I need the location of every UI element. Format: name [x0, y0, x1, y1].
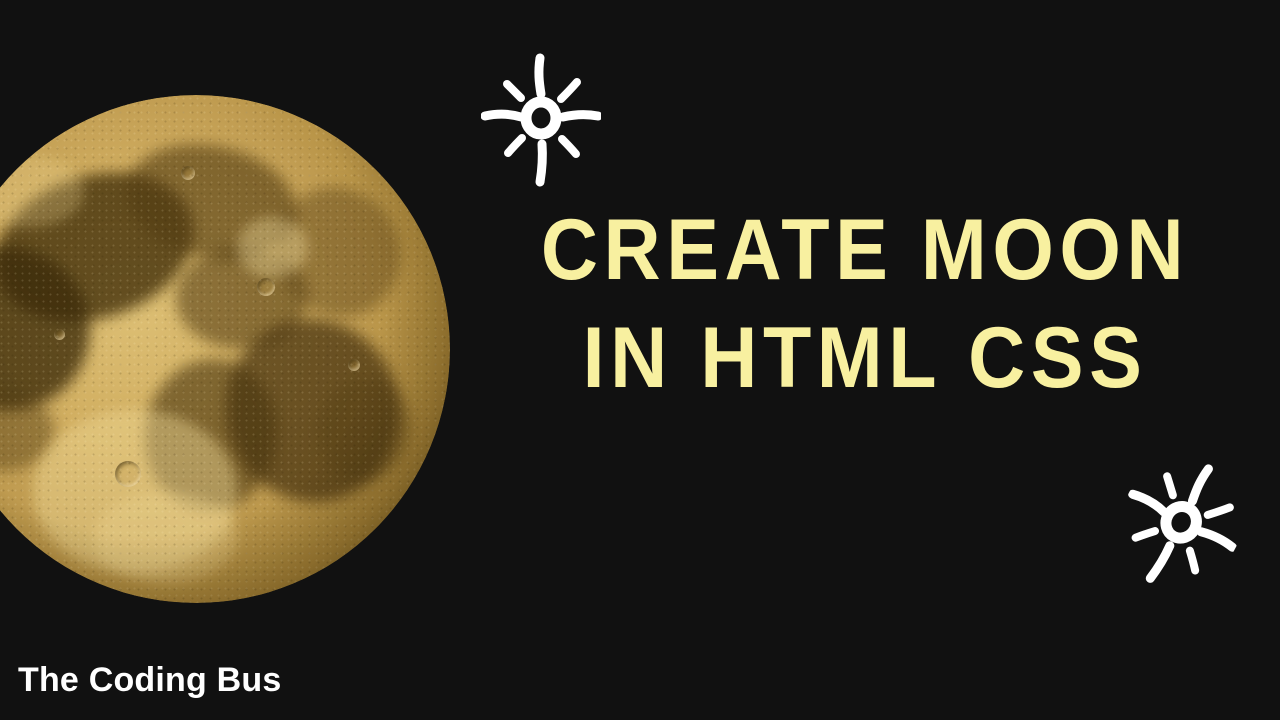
sparkle-icon — [481, 48, 601, 193]
channel-watermark: The Coding Bus — [18, 661, 281, 700]
video-thumbnail: CREATE MOON IN HTML CSS The Coding Bus — [0, 0, 1280, 720]
title-block: CREATE MOON IN HTML CSS — [470, 196, 1260, 412]
title-line-1: CREATE MOON — [502, 196, 1229, 304]
sparkle-icon — [1093, 432, 1267, 616]
moon-limb-glow — [0, 95, 450, 603]
title-line-2: IN HTML CSS — [502, 304, 1229, 412]
moon-image — [0, 95, 450, 603]
